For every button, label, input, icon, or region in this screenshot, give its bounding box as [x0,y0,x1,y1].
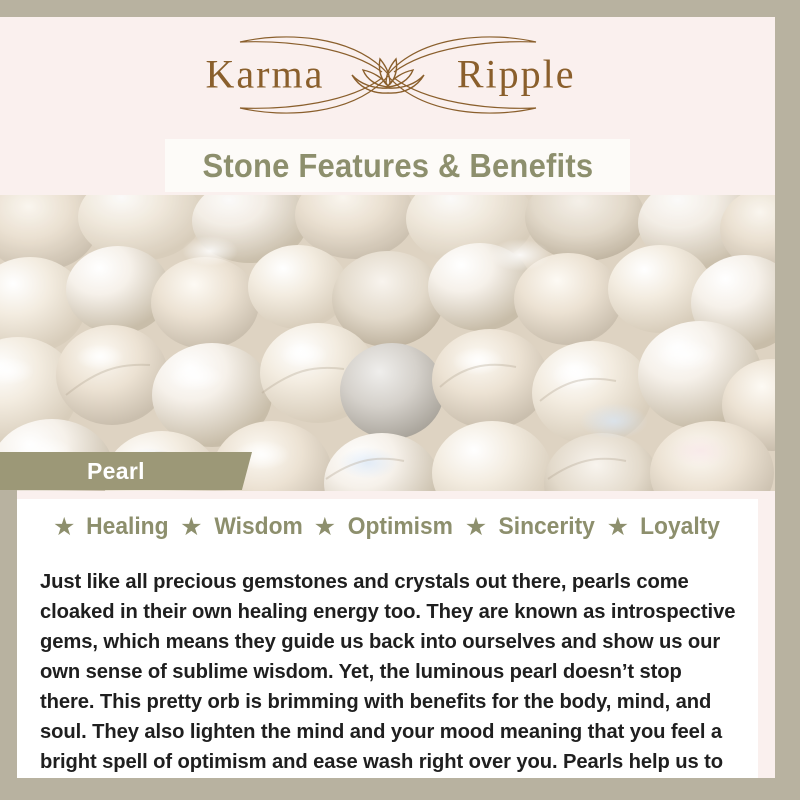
keyword-sincerity: Sincerity [499,513,595,541]
star-icon: ★ [465,515,487,540]
stone-description-text: Just like all precious gemstones and cry… [40,567,736,800]
benefit-keywords-row: ★ Healing ★ Wisdom ★ Optimism ★ Sincerit… [17,513,758,541]
stone-name-text: Pearl [87,458,145,485]
star-icon: ★ [180,515,202,540]
frame-right-band [775,0,800,800]
star-icon: ★ [314,515,336,540]
stone-name-label: Pearl [0,452,252,490]
star-icon: ★ [607,515,629,540]
logo-word-karma: Karma [206,51,325,98]
keyword-loyalty: Loyalty [640,513,720,541]
brand-logo: Karma Ripple [0,24,775,124]
frame-bottom-band [0,778,800,800]
frame-left-band [0,490,17,800]
frame-top-band [0,0,800,17]
keyword-wisdom: Wisdom [214,513,302,541]
page-title: Stone Features & Benefits [202,147,593,185]
photo-panel-separator [17,491,758,499]
logo-word-ripple: Ripple [457,51,576,98]
star-icon: ★ [53,515,75,540]
pearls-image [0,195,775,491]
title-banner: Stone Features & Benefits [165,139,630,192]
keyword-optimism: Optimism [348,513,453,541]
stone-benefits-infographic: Karma Ripple Stone Features & Benefits [0,0,800,800]
keyword-healing: Healing [87,513,169,541]
stone-photo: Pearl [0,195,775,491]
content-panel: ★ Healing ★ Wisdom ★ Optimism ★ Sincerit… [17,499,758,778]
